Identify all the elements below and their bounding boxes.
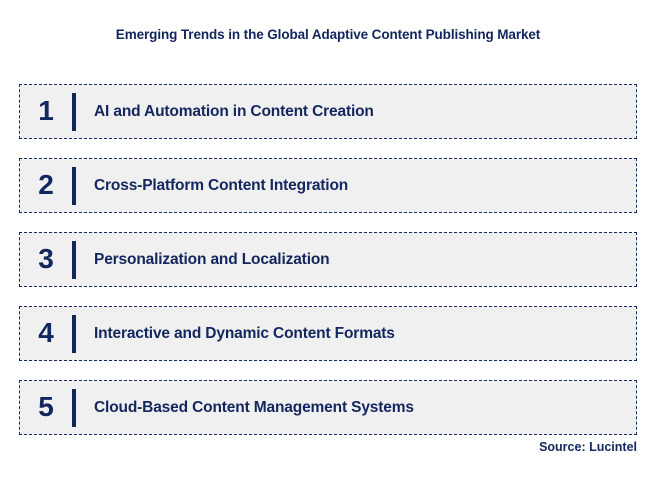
trend-label: Cross-Platform Content Integration [76,177,636,195]
trend-rank-number: 2 [20,171,72,201]
trend-rank-number: 5 [20,393,72,423]
list-item[interactable]: 1 AI and Automation in Content Creation [19,84,637,139]
list-item[interactable]: 4 Interactive and Dynamic Content Format… [19,306,637,361]
trend-label: Interactive and Dynamic Content Formats [76,325,636,343]
source-attribution: Source: Lucintel [539,440,637,454]
list-item[interactable]: 3 Personalization and Localization [19,232,637,287]
infographic-page: Emerging Trends in the Global Adaptive C… [0,0,656,481]
trend-label: AI and Automation in Content Creation [76,103,636,121]
trend-rank-number: 1 [20,97,72,127]
trend-label: Personalization and Localization [76,251,636,269]
trend-rank-number: 4 [20,319,72,349]
trend-list: 1 AI and Automation in Content Creation … [19,84,637,435]
page-title: Emerging Trends in the Global Adaptive C… [0,27,656,42]
list-item[interactable]: 5 Cloud-Based Content Management Systems [19,380,637,435]
list-item[interactable]: 2 Cross-Platform Content Integration [19,158,637,213]
trend-rank-number: 3 [20,245,72,275]
trend-label: Cloud-Based Content Management Systems [76,399,636,417]
